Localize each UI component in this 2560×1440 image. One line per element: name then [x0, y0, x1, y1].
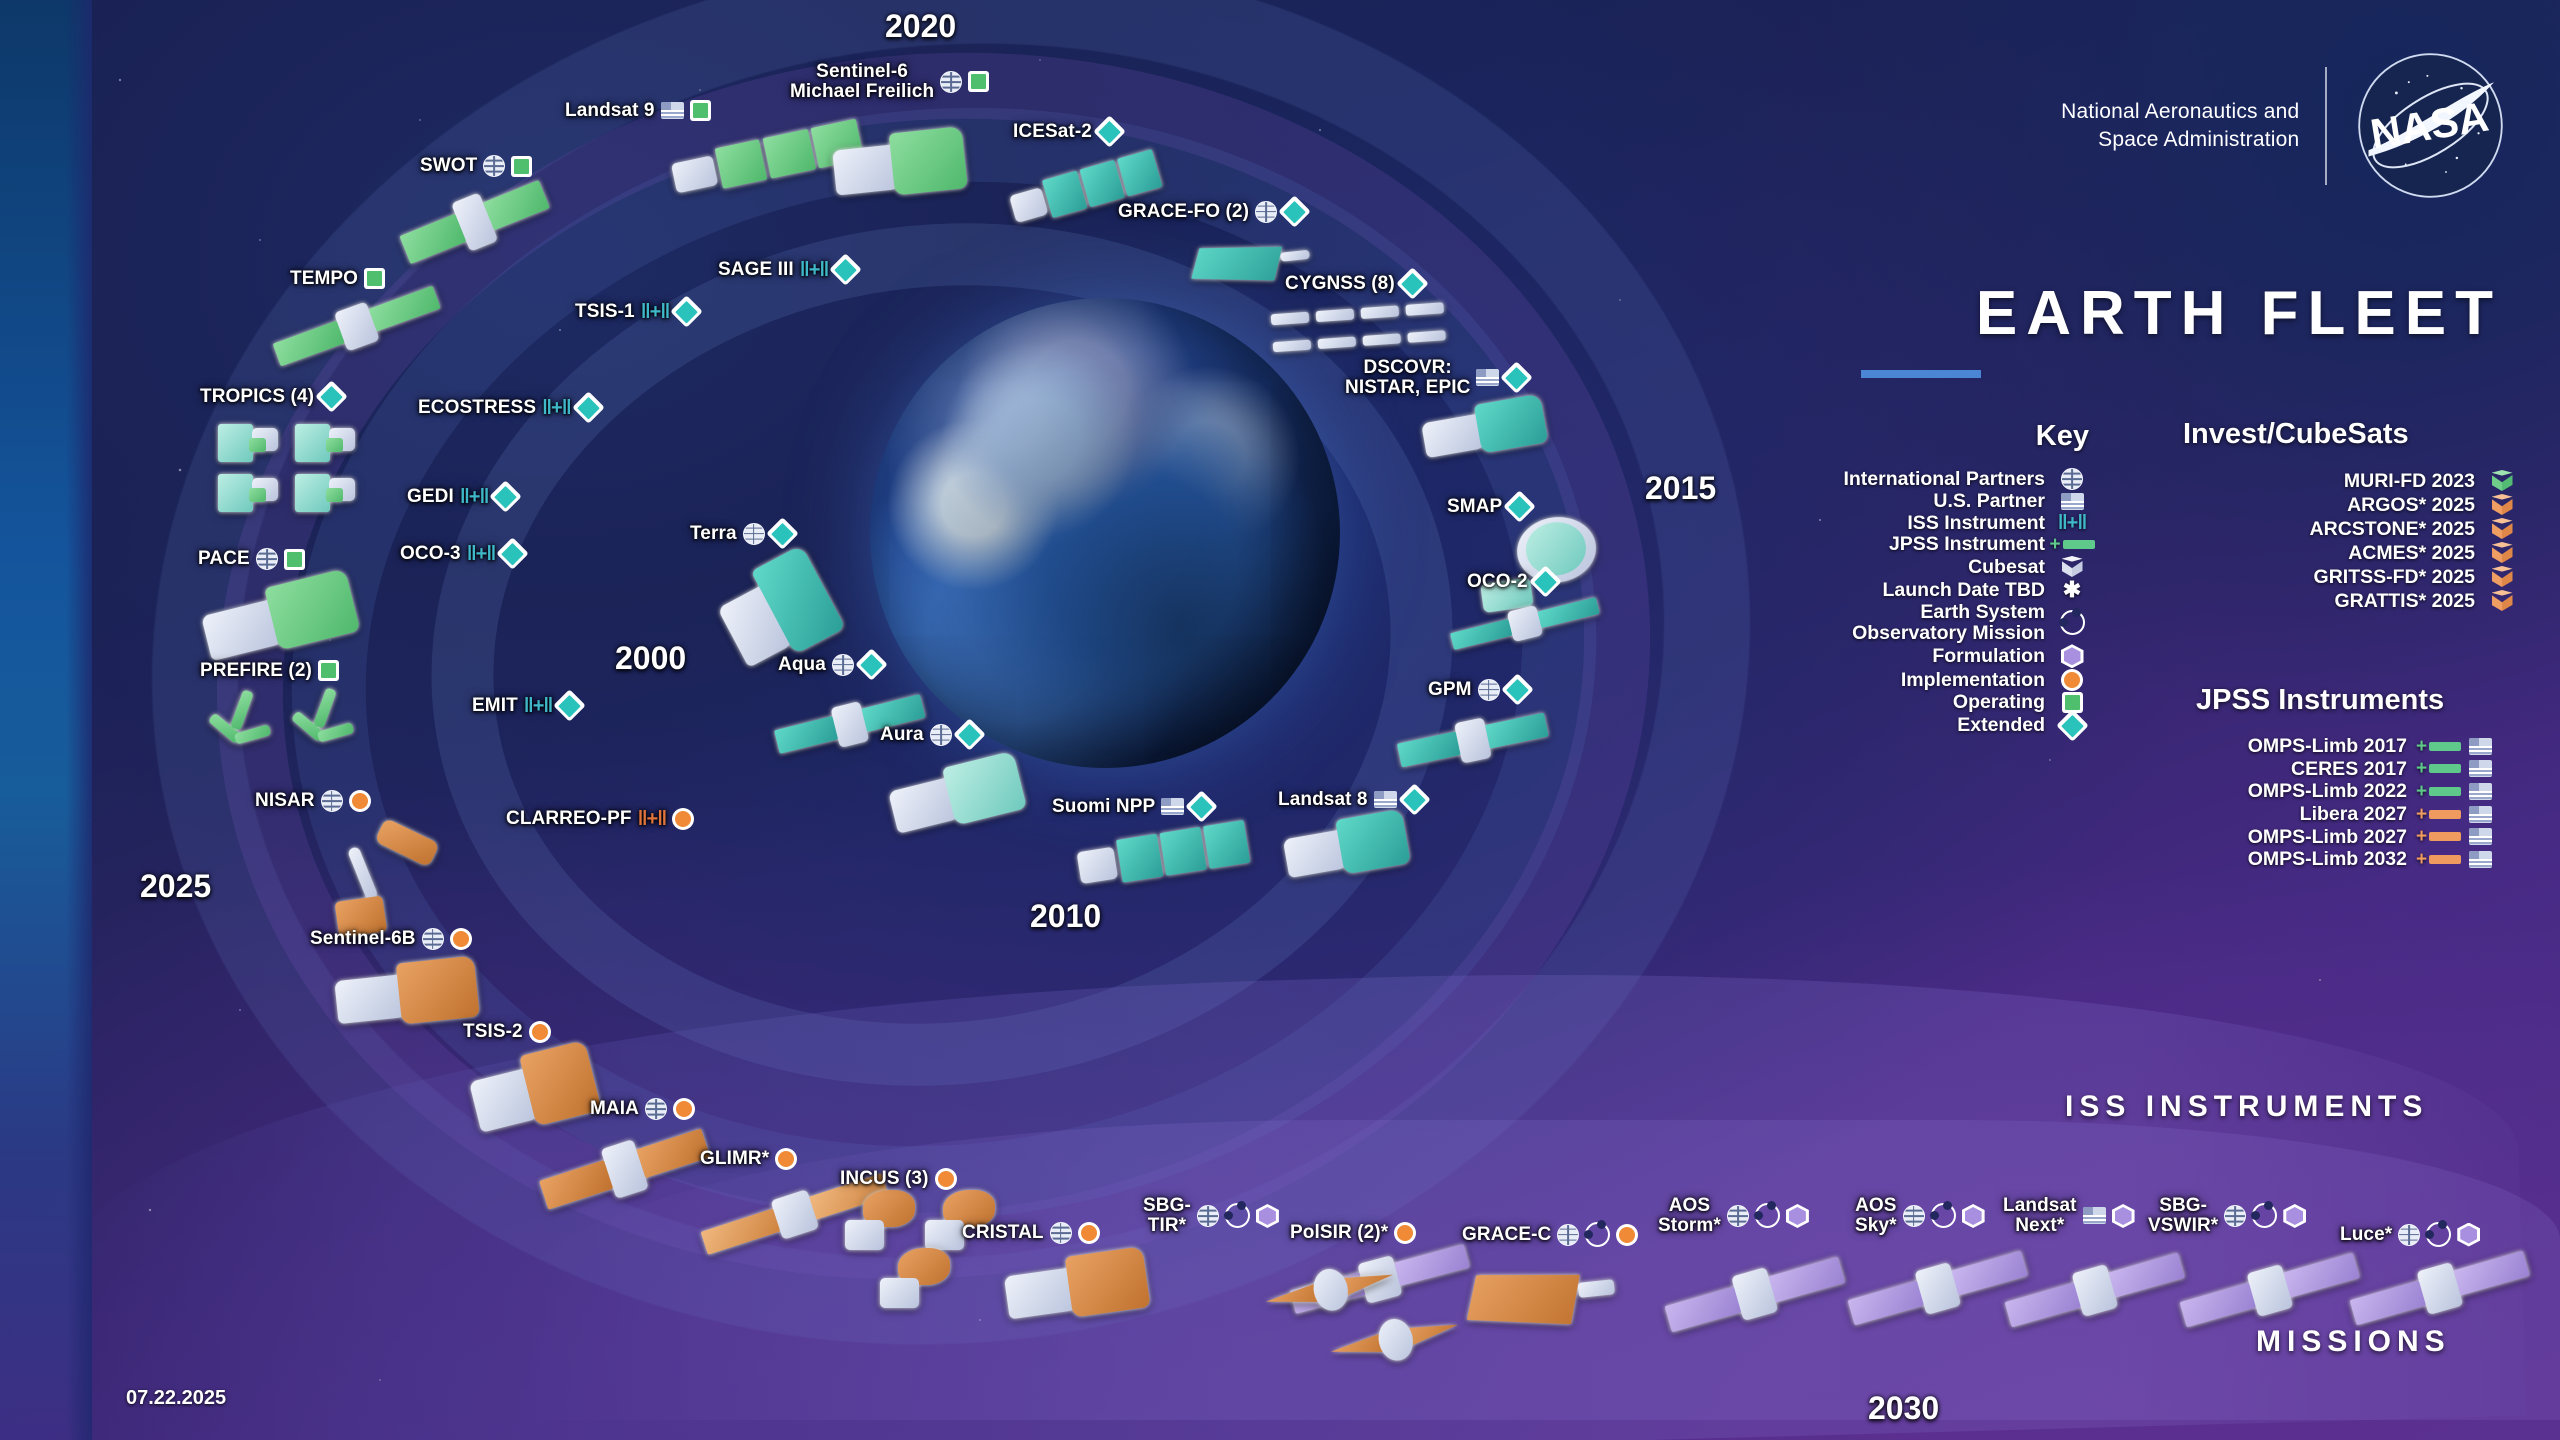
circle-orange-icon	[1078, 1222, 1100, 1244]
mission-label: Luce*	[2340, 1222, 2480, 1247]
invest-label: MURI-FD 2023	[2344, 471, 2475, 492]
invest-row: GRITSS-FD* 2025	[2160, 566, 2520, 588]
cubesat-green-icon	[2492, 470, 2513, 492]
hexagon-purple-icon	[1256, 1204, 1279, 1228]
globe-icon	[2398, 1224, 2420, 1246]
globe-icon	[321, 790, 343, 812]
jpss-label: OMPS-Limb 2027	[2248, 827, 2407, 848]
legend-icon-slot	[2054, 493, 2090, 510]
mission-name: GPM	[1428, 680, 1472, 700]
jpss-icon-slot: +	[2416, 850, 2520, 869]
mission-name: Landsat 9	[565, 101, 655, 121]
circle-orange-icon	[672, 808, 694, 830]
legend-label: Extended	[1957, 715, 2045, 736]
mission-name: PACE	[198, 549, 250, 569]
invest-row: ARCSTONE* 2025	[2160, 518, 2520, 540]
mission-name: OCO-2	[1467, 572, 1528, 592]
jpss-instrument-icon: +	[2416, 782, 2461, 801]
nasa-meatball-logo: NASA	[2353, 48, 2508, 203]
mission-label: PREFIRE (2)	[200, 660, 339, 681]
legend-icon-slot	[2054, 468, 2090, 490]
jpss-label: CERES 2017	[2291, 759, 2407, 780]
legend-label: JPSS Instrument	[1889, 534, 2045, 555]
asterisk-icon: ✱	[2063, 579, 2081, 601]
eso-icon	[2060, 610, 2085, 635]
iss-instrument-icon: ‖+‖	[524, 696, 553, 716]
hexagon-purple-icon	[2112, 1204, 2135, 1228]
mission-label: ECOSTRESS‖+‖	[418, 396, 600, 419]
iss-instrument-icon: ‖+‖	[800, 260, 829, 280]
globe-icon	[940, 71, 962, 93]
invest-icon-slot	[2484, 518, 2520, 540]
globe-icon	[1050, 1222, 1072, 1244]
mission-name: Aura	[880, 725, 924, 745]
us-flag-icon	[2083, 1207, 2106, 1224]
globe-icon	[645, 1098, 667, 1120]
mission-label: TROPICS (4)	[200, 385, 343, 408]
mission-name: ECOSTRESS	[418, 398, 536, 418]
mission-label: TSIS-1‖+‖	[575, 300, 698, 323]
jpss-row: OMPS-Limb 2017+	[2096, 736, 2520, 757]
mission-name: NISAR	[255, 791, 315, 811]
earth-fleet-infographic: National Aeronautics and Space Administr…	[0, 0, 2560, 1440]
diamond-teal-icon	[1501, 673, 1534, 706]
diamond-teal-icon	[1504, 490, 1537, 523]
mission-label: CRISTAL	[962, 1222, 1100, 1244]
legend-row: Earth SystemObservatory Mission	[1838, 602, 2090, 643]
mission-label: AOSStorm*	[1658, 1196, 1809, 1236]
globe-icon	[2061, 468, 2083, 490]
legend-icon-slot	[2054, 714, 2090, 737]
cubesat-icon	[2062, 556, 2083, 578]
header-divider	[2325, 67, 2327, 185]
iss-instrument-icon: ‖+‖	[467, 544, 496, 564]
legend-icon-slot	[2054, 556, 2090, 578]
diamond-teal-icon	[497, 537, 530, 570]
legend-label: Formulation	[1932, 646, 2045, 667]
mission-name: GEDI	[407, 487, 454, 507]
jpss-instrument-icon: +	[2416, 737, 2461, 756]
us-flag-icon	[1161, 798, 1184, 815]
jpss-icon-slot: +	[2416, 827, 2520, 846]
invest-icon-slot	[2484, 542, 2520, 564]
diamond-teal-icon	[490, 480, 523, 513]
invest-cubesats-legend: MURI-FD 2023ARGOS* 2025ARCSTONE* 2025ACM…	[2160, 470, 2520, 612]
mission-name: OCO-3	[400, 544, 461, 564]
legend-label: Cubesat	[1968, 557, 2045, 578]
mission-label: TEMPO	[290, 268, 385, 289]
jpss-icon-slot: +	[2416, 737, 2520, 756]
eso-icon	[1755, 1203, 1780, 1228]
square-green-icon	[511, 156, 532, 177]
left-accent-strip	[0, 0, 92, 1440]
mission-label: Landsat 8	[1278, 788, 1426, 811]
circle-orange-icon	[1616, 1224, 1638, 1246]
diamond-teal-icon	[1501, 362, 1534, 395]
mission-label: Sentinel-6Michael Freilich	[790, 62, 989, 102]
us-flag-icon	[2469, 806, 2492, 823]
jpss-instruments-title: JPSS Instruments	[2196, 684, 2444, 717]
jpss-row: OMPS-Limb 2032+	[2096, 849, 2520, 870]
mission-name: DSCOVR:	[1345, 358, 1470, 378]
jpss-instrument-icon: +	[2416, 850, 2461, 869]
cubesat-orange-icon	[2492, 590, 2513, 612]
page-title: EARTH FLEET	[1976, 278, 2502, 349]
globe-icon	[2224, 1205, 2246, 1227]
iss-instruments-section-title: ISS INSTRUMENTS	[2065, 1090, 2428, 1124]
jpss-row: OMPS-Limb 2022+	[2096, 781, 2520, 802]
cubesat-orange-icon	[2492, 494, 2513, 516]
us-flag-icon	[1374, 791, 1397, 808]
legend-label: U.S. Partner	[1933, 491, 2045, 512]
mission-name: Aqua	[778, 655, 826, 675]
cubesat-orange-icon	[2492, 566, 2513, 588]
legend-row: Extended	[1838, 714, 2090, 737]
globe-icon	[743, 523, 765, 545]
hexagon-purple-icon	[1962, 1204, 1985, 1228]
year-marker: 2030	[1868, 1390, 1939, 1427]
globe-icon	[1478, 679, 1500, 701]
mission-name: AOS	[1658, 1196, 1721, 1216]
mission-label: CYGNSS (8)	[1285, 272, 1424, 295]
mission-label: Aqua	[778, 653, 883, 676]
mission-label: SMAP	[1447, 495, 1531, 518]
mission-label: OCO-2	[1467, 570, 1557, 593]
us-flag-icon	[1476, 369, 1499, 386]
legend-row: U.S. Partner	[1838, 491, 2090, 512]
iss-instrument-icon: ‖+‖	[641, 302, 670, 322]
legend-row: Implementation	[1838, 669, 2090, 691]
mission-label: GLIMR*	[700, 1148, 797, 1170]
legend-row: International Partners	[1838, 468, 2090, 490]
mission-name-line2: Sky*	[1855, 1216, 1897, 1236]
diamond-teal-icon	[1398, 783, 1431, 816]
mission-name: SWOT	[420, 156, 477, 176]
spiral-tail-lower	[520, 1120, 2560, 1420]
mission-label: PolSIR (2)*	[1290, 1222, 1416, 1244]
diamond-teal-icon	[315, 380, 348, 413]
diamond-teal-icon	[766, 517, 799, 550]
diamond-teal-icon	[554, 689, 587, 722]
cubesat-orange-icon	[2492, 542, 2513, 564]
agency-line-2: Space Administration	[2061, 126, 2299, 154]
year-marker: 2025	[140, 868, 211, 905]
jpss-label: OMPS-Limb 2022	[2248, 781, 2407, 802]
iss-instrument-icon: ‖+‖	[638, 809, 667, 829]
mission-label: NISAR	[255, 790, 371, 812]
mission-name: PREFIRE (2)	[200, 661, 312, 681]
mission-label: MAIA	[590, 1098, 695, 1120]
mission-name: SBG-	[2148, 1196, 2218, 1216]
mission-name: GLIMR*	[700, 1149, 769, 1169]
us-flag-icon	[2469, 760, 2492, 777]
legend-icon-slot	[2054, 669, 2090, 691]
agency-name: National Aeronautics and Space Administr…	[2061, 98, 2299, 153]
mission-label: Sentinel-6B	[310, 928, 472, 950]
us-flag-icon	[2469, 851, 2492, 868]
square-green-icon	[318, 660, 339, 681]
legend-icon-slot: +	[2054, 535, 2090, 554]
square-green-icon	[690, 100, 711, 121]
hexagon-purple-icon	[2457, 1223, 2480, 1247]
mission-name: Terra	[690, 524, 737, 544]
mission-label: OCO-3‖+‖	[400, 542, 524, 565]
invest-icon-slot	[2484, 566, 2520, 588]
mission-label: ICESat-2	[1013, 120, 1121, 143]
legend-row: Launch Date TBD✱	[1838, 579, 2090, 601]
mission-label: Aura	[880, 723, 981, 746]
legend-label: Earth System	[1852, 602, 2045, 623]
globe-icon	[832, 654, 854, 676]
mission-name-line2: Next*	[2003, 1216, 2077, 1236]
mission-name: TROPICS (4)	[200, 387, 314, 407]
circle-orange-icon	[935, 1168, 957, 1190]
legend-row: Cubesat	[1838, 556, 2090, 578]
legend-row: Operating	[1838, 692, 2090, 713]
year-marker: 2020	[885, 8, 956, 45]
mission-label: DSCOVR:NISTAR, EPIC	[1345, 358, 1528, 398]
mission-label: Suomi NPP	[1052, 795, 1213, 818]
circle-orange-icon	[2061, 669, 2083, 691]
mission-name: GRACE-C	[1462, 1225, 1551, 1245]
jpss-row: OMPS-Limb 2027+	[2096, 827, 2520, 848]
us-flag-icon	[2469, 738, 2492, 755]
eso-icon	[2252, 1203, 2277, 1228]
mission-name: TSIS-1	[575, 302, 635, 322]
mission-label: GRACE-FO (2)	[1118, 200, 1306, 223]
jpss-row: Libera 2027+	[2096, 804, 2520, 825]
mission-name: Landsat	[2003, 1196, 2077, 1216]
iss-instrument-icon: ‖+‖	[2058, 513, 2087, 533]
legend-label: ISS Instrument	[1907, 513, 2045, 534]
diamond-teal-icon	[1093, 115, 1126, 148]
mission-name: Suomi NPP	[1052, 797, 1155, 817]
diamond-teal-icon	[1186, 790, 1219, 823]
mission-name: AOS	[1855, 1196, 1897, 1216]
hexagon-purple-icon	[2061, 644, 2084, 668]
globe-icon	[1727, 1205, 1749, 1227]
iss-instrument-icon: ‖+‖	[460, 487, 489, 507]
eso-icon	[1585, 1222, 1610, 1247]
mission-label: GRACE-C	[1462, 1222, 1638, 1247]
earth-globe	[870, 298, 1340, 768]
mission-name-line2: Storm*	[1658, 1216, 1721, 1236]
circle-orange-icon	[673, 1098, 695, 1120]
us-flag-icon	[2061, 493, 2084, 510]
circle-orange-icon	[349, 790, 371, 812]
square-green-icon	[968, 71, 989, 92]
legend-label: International Partners	[1843, 469, 2045, 490]
mission-label: SWOT	[420, 155, 532, 177]
invest-label: ARGOS* 2025	[2347, 495, 2475, 516]
mission-name: Landsat 8	[1278, 790, 1368, 810]
mission-label: Landsat 9	[565, 100, 711, 121]
square-green-icon	[284, 549, 305, 570]
diamond-teal-icon	[830, 253, 863, 286]
date-stamp: 07.22.2025	[126, 1387, 226, 1410]
mission-label: EMIT‖+‖	[472, 694, 581, 717]
mission-name-line2: Michael Freilich	[790, 82, 934, 102]
legend-row: JPSS Instrument+	[1838, 534, 2090, 555]
us-flag-icon	[2469, 828, 2492, 845]
globe-icon	[1197, 1205, 1219, 1227]
us-flag-icon	[2469, 783, 2492, 800]
mission-label: AOSSky*	[1855, 1196, 1985, 1236]
title-underline	[1861, 370, 1981, 378]
legend-label: Implementation	[1901, 670, 2045, 691]
legend-row: ISS Instrument‖+‖	[1838, 513, 2090, 534]
eso-icon	[1225, 1203, 1250, 1228]
jpss-icon-slot: +	[2416, 759, 2520, 778]
invest-icon-slot	[2484, 494, 2520, 516]
mission-label: CLARREO-PF‖+‖	[506, 808, 694, 830]
invest-icon-slot	[2484, 590, 2520, 612]
legend-icon-slot: ✱	[2054, 579, 2090, 601]
invest-row: ACMES* 2025	[2160, 542, 2520, 564]
invest-row: GRATTIS* 2025	[2160, 590, 2520, 612]
legend-row: Formulation	[1838, 644, 2090, 668]
hexagon-purple-icon	[1786, 1204, 1809, 1228]
mission-name: PolSIR (2)*	[1290, 1223, 1388, 1243]
diamond-teal-icon	[855, 648, 888, 681]
invest-label: GRITSS-FD* 2025	[2314, 567, 2475, 588]
invest-label: ACMES* 2025	[2348, 543, 2475, 564]
mission-name: SBG-	[1143, 1196, 1191, 1216]
mission-label: PACE	[198, 548, 305, 570]
eso-icon	[2426, 1222, 2451, 1247]
mission-name: TEMPO	[290, 269, 358, 289]
circle-orange-icon	[529, 1021, 551, 1043]
invest-row: ARGOS* 2025	[2160, 494, 2520, 516]
jpss-instrument-icon: +	[2416, 805, 2461, 824]
diamond-teal-icon	[953, 718, 986, 751]
jpss-instrument-icon: +	[2416, 827, 2461, 846]
circle-orange-icon	[775, 1148, 797, 1170]
diamond-teal-icon	[2056, 710, 2089, 743]
mission-name: INCUS (3)	[840, 1169, 929, 1189]
mission-name: SMAP	[1447, 497, 1502, 517]
nasa-header: National Aeronautics and Space Administr…	[2061, 48, 2508, 203]
globe-icon	[256, 548, 278, 570]
mission-name: MAIA	[590, 1099, 639, 1119]
mission-name: CLARREO-PF	[506, 809, 632, 829]
mission-name: Luce*	[2340, 1225, 2392, 1245]
key-legend: International PartnersU.S. PartnerISS In…	[1838, 468, 2090, 737]
mission-name-line2: VSWIR*	[2148, 1216, 2218, 1236]
us-flag-icon	[661, 102, 684, 119]
mission-name: CYGNSS (8)	[1285, 274, 1395, 294]
mission-label: GPM	[1428, 678, 1529, 701]
jpss-row: CERES 2017+	[2096, 759, 2520, 780]
mission-name: TSIS-2	[463, 1022, 523, 1042]
cubesat-orange-icon	[2492, 518, 2513, 540]
mission-name-line2: NISTAR, EPIC	[1345, 378, 1470, 398]
eso-icon	[1931, 1203, 1956, 1228]
invest-label: GRATTIS* 2025	[2334, 591, 2475, 612]
jpss-label: Libera 2027	[2300, 804, 2407, 825]
legend-label-line2: Observatory Mission	[1852, 623, 2045, 644]
legend-label: Launch Date TBD	[1882, 580, 2045, 601]
mission-name: Sentinel-6B	[310, 929, 416, 949]
mission-label: Terra	[690, 522, 794, 545]
globe-icon	[1903, 1205, 1925, 1227]
globe-icon	[1557, 1224, 1579, 1246]
year-marker: 2000	[615, 640, 686, 677]
mission-label: SBG-TIR*	[1143, 1196, 1279, 1236]
jpss-instrument-icon: +	[2416, 759, 2461, 778]
diamond-teal-icon	[671, 295, 704, 328]
invest-row: MURI-FD 2023	[2160, 470, 2520, 492]
jpss-label: OMPS-Limb 2032	[2248, 849, 2407, 870]
mission-name: ICESat-2	[1013, 122, 1092, 142]
invest-icon-slot	[2484, 470, 2520, 492]
jpss-icon-slot: +	[2416, 782, 2520, 801]
circle-orange-icon	[1394, 1222, 1416, 1244]
globe-icon	[930, 724, 952, 746]
circle-orange-icon	[450, 928, 472, 950]
mission-label: SAGE III‖+‖	[718, 258, 857, 281]
invest-cubesats-title: Invest/CubeSats	[2183, 418, 2409, 451]
legend-icon-slot	[2054, 610, 2090, 635]
hexagon-purple-icon	[2283, 1204, 2306, 1228]
jpss-instruments-legend: OMPS-Limb 2017+CERES 2017+OMPS-Limb 2022…	[2096, 736, 2520, 870]
globe-icon	[1255, 201, 1277, 223]
diamond-teal-icon	[1529, 565, 1562, 598]
missions-section-title: MISSIONS	[2256, 1325, 2451, 1359]
globe-icon	[483, 155, 505, 177]
mission-name-line2: TIR*	[1143, 1216, 1191, 1236]
mission-name: Sentinel-6	[790, 62, 934, 82]
legend-icon-slot	[2054, 644, 2090, 668]
diamond-teal-icon	[1396, 267, 1429, 300]
iss-instrument-icon: ‖+‖	[542, 398, 571, 418]
key-panel-title: Key	[2036, 420, 2089, 453]
mission-name: CRISTAL	[962, 1223, 1044, 1243]
agency-line-1: National Aeronautics and	[2061, 98, 2299, 126]
legend-label: Operating	[1953, 692, 2045, 713]
globe-icon	[422, 928, 444, 950]
mission-label: LandsatNext*	[2003, 1196, 2135, 1236]
diamond-teal-icon	[572, 391, 605, 424]
mission-label: GEDI‖+‖	[407, 485, 517, 508]
mission-label: SBG-VSWIR*	[2148, 1196, 2306, 1236]
jpss-icon-slot: +	[2416, 805, 2520, 824]
year-marker: 2010	[1030, 898, 1101, 935]
mission-name: SAGE III	[718, 260, 794, 280]
mission-name: GRACE-FO (2)	[1118, 202, 1249, 222]
mission-name: EMIT	[472, 696, 518, 716]
mission-label: TSIS-2	[463, 1021, 551, 1043]
jpss-label: OMPS-Limb 2017	[2248, 736, 2407, 757]
jpss-instrument-icon: +	[2049, 535, 2094, 554]
invest-label: ARCSTONE* 2025	[2310, 519, 2475, 540]
legend-icon-slot: ‖+‖	[2054, 513, 2090, 533]
diamond-teal-icon	[1278, 195, 1311, 228]
mission-label: INCUS (3)	[840, 1168, 957, 1190]
year-marker: 2015	[1645, 470, 1716, 507]
square-green-icon	[364, 268, 385, 289]
